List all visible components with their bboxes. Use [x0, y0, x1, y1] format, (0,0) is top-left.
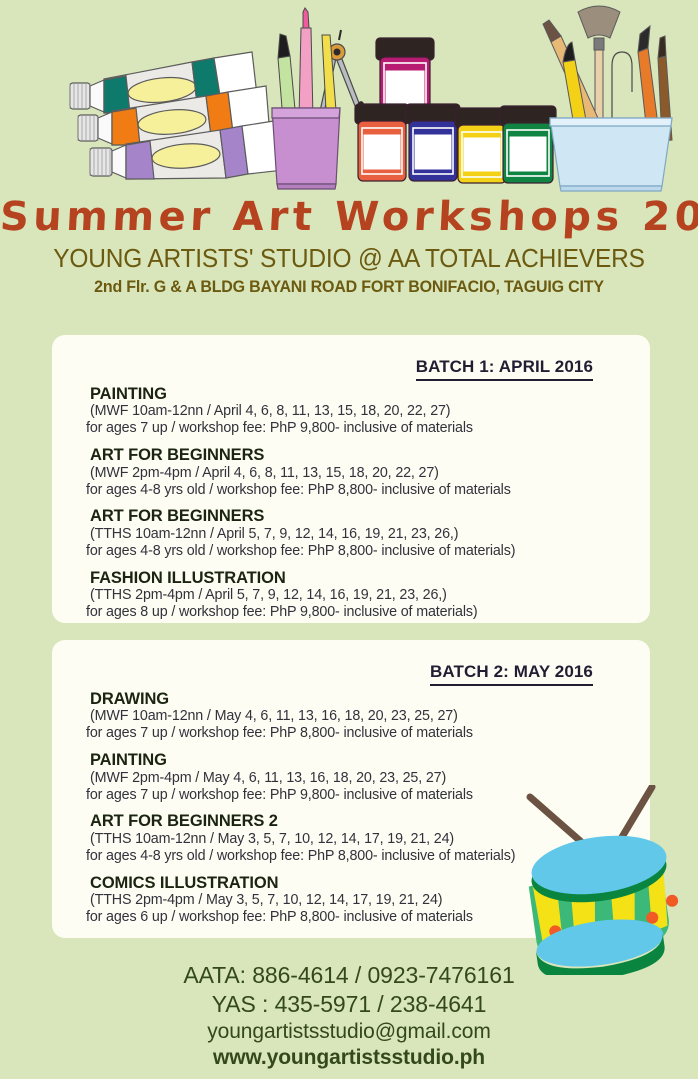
- course-details: for ages 8 up / workshop fee: PhP 9,800-…: [86, 604, 632, 621]
- paint-jar-blue: [406, 104, 460, 181]
- brush-cup-with-brushes: [543, 6, 672, 191]
- yas-phone: YAS : 435-5971 / 238-4641: [0, 991, 698, 1019]
- art-supplies-illustration: [0, 0, 698, 200]
- course-name: PAINTING: [90, 385, 632, 403]
- brush-icon: [278, 34, 296, 120]
- course-schedule: (MWF 10am-12nn / April 4, 6, 8, 11, 13, …: [90, 403, 632, 420]
- course-item: ART FOR BEGINNERS (MWF 2pm-4pm / April 4…: [90, 446, 632, 498]
- poster-canvas: Summer Art Workshops 2016 YOUNG ARTISTS'…: [0, 0, 698, 1079]
- studio-name: YOUNG ARTISTS' STUDIO @ AA TOTAL ACHIEVE…: [14, 244, 684, 275]
- email-address[interactable]: youngartistsstudio@gmail.com: [0, 1019, 698, 1044]
- aata-phone: AATA: 886-4614 / 0923-7476161: [0, 962, 698, 990]
- course-item: FASHION ILLUSTRATION (TTHS 2pm-4pm / Apr…: [90, 569, 632, 621]
- course-item: DRAWING (MWF 10am-12nn / May 4, 6, 11, 1…: [90, 690, 632, 742]
- course-item: PAINTING (MWF 10am-12nn / April 4, 6, 8,…: [90, 385, 632, 437]
- course-name: PAINTING: [90, 751, 632, 769]
- course-name: ART FOR BEGINNERS: [90, 507, 632, 525]
- course-item: PAINTING (MWF 2pm-4pm / May 4, 6, 11, 13…: [90, 751, 632, 803]
- course-details: for ages 6 up / workshop fee: PhP 8,800-…: [86, 909, 632, 926]
- course-name: DRAWING: [90, 690, 632, 708]
- footer-contact: AATA: 886-4614 / 0923-7476161 YAS : 435-…: [0, 962, 698, 1071]
- course-schedule: (TTHS 10am-12nn / May 3, 5, 7, 10, 12, 1…: [90, 831, 632, 848]
- course-details: for ages 4-8 yrs old / workshop fee: PhP…: [86, 848, 632, 865]
- batch-card-1: BATCH 1: APRIL 2016 PAINTING (MWF 10am-1…: [52, 335, 650, 623]
- marker-icon: [299, 8, 313, 118]
- course-list: DRAWING (MWF 10am-12nn / May 4, 6, 11, 1…: [90, 690, 632, 926]
- course-item: ART FOR BEGINNERS 2 (TTHS 10am-12nn / Ma…: [90, 812, 632, 864]
- course-name: FASHION ILLUSTRATION: [90, 569, 632, 587]
- course-schedule: (TTHS 10am-12nn / April 5, 7, 9, 12, 14,…: [90, 526, 632, 543]
- studio-address: 2nd Flr. G & A BLDG BAYANI ROAD FORT BON…: [10, 277, 687, 298]
- course-item: ART FOR BEGINNERS (TTHS 10am-12nn / Apri…: [90, 507, 632, 559]
- course-schedule: (MWF 2pm-4pm / May 4, 6, 11, 13, 16, 18,…: [90, 770, 632, 787]
- course-schedule: (MWF 2pm-4pm / April 4, 6, 8, 11, 13, 15…: [90, 465, 632, 482]
- page-title: Summer Art Workshops 2016: [0, 196, 698, 239]
- pen-cup: [272, 108, 340, 184]
- course-details: for ages 7 up / workshop fee: PhP 9,800-…: [86, 787, 632, 804]
- course-details: for ages 7 up / workshop fee: PhP 9,800-…: [86, 420, 632, 437]
- course-details: for ages 4-8 yrs old / workshop fee: PhP…: [86, 543, 632, 560]
- course-name: COMICS ILLUSTRATION: [90, 874, 632, 892]
- course-details: for ages 7 up / workshop fee: PhP 8,800-…: [86, 725, 632, 742]
- batch-heading: BATCH 2: MAY 2016: [430, 662, 593, 686]
- course-name: ART FOR BEGINNERS 2: [90, 812, 632, 830]
- paint-jar-green: [500, 106, 556, 183]
- course-schedule: (TTHS 2pm-4pm / April 5, 7, 9, 12, 14, 1…: [90, 587, 632, 604]
- course-details: for ages 4-8 yrs old / workshop fee: PhP…: [86, 482, 632, 499]
- course-item: COMICS ILLUSTRATION (TTHS 2pm-4pm / May …: [90, 874, 632, 926]
- brush-cup: [550, 118, 672, 186]
- course-name: ART FOR BEGINNERS: [90, 446, 632, 464]
- course-schedule: (TTHS 2pm-4pm / May 3, 5, 7, 10, 12, 14,…: [90, 892, 632, 909]
- batch-card-2: BATCH 2: MAY 2016 DRAWING (MWF 10am-12nn…: [52, 640, 650, 938]
- website-url[interactable]: www.youngartistsstudio.ph: [0, 1045, 698, 1070]
- poster-headline: Summer Art Workshops 2016 YOUNG ARTISTS'…: [0, 196, 698, 297]
- course-list: PAINTING (MWF 10am-12nn / April 4, 6, 8,…: [90, 385, 632, 621]
- batch-heading: BATCH 1: APRIL 2016: [416, 357, 593, 381]
- course-schedule: (MWF 10am-12nn / May 4, 6, 11, 13, 16, 1…: [90, 708, 632, 725]
- paint-jar-red: [355, 104, 409, 181]
